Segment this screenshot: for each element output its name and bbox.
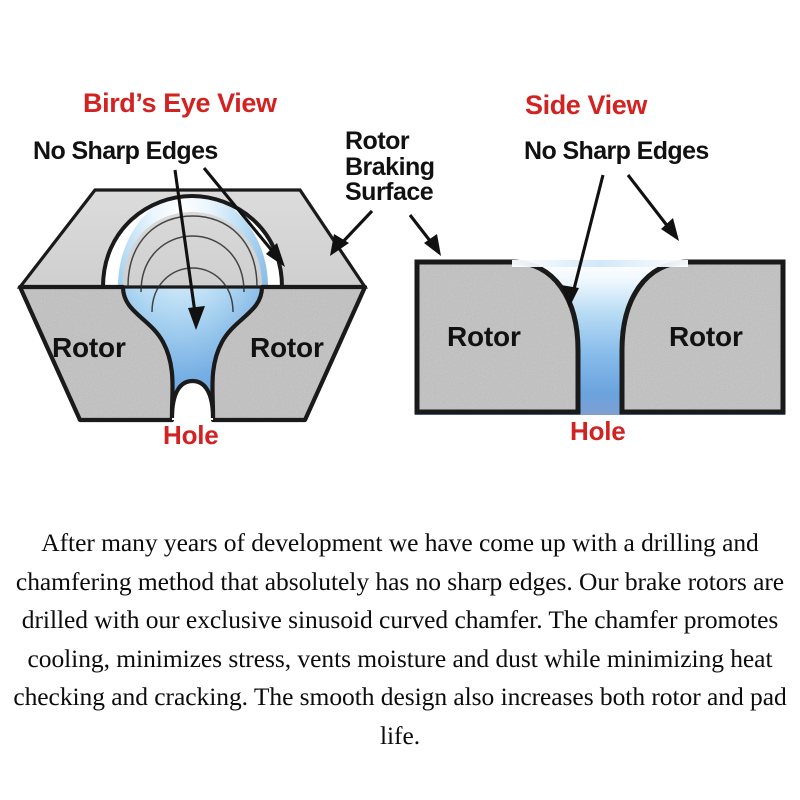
birds-eye-view-title: Bird’s Eye View <box>83 89 277 117</box>
side-rotor-label-east: Rotor <box>669 322 743 351</box>
rotor-braking-surface-label: Rotor Braking Surface <box>345 129 435 206</box>
left-hole-label: Hole <box>163 422 219 449</box>
rotor-chamfer-infographic: Bird’s Eye View No Sharp Edges Rotor Bra… <box>0 0 800 800</box>
left-no-sharp-edges-label: No Sharp Edges <box>33 138 218 164</box>
side-view-title: Side View <box>525 91 647 119</box>
side-surface-feather <box>512 260 688 267</box>
left-rotor-label-east: Rotor <box>250 333 324 362</box>
left-rotor-label-west: Rotor <box>52 333 126 362</box>
diagram-area: Bird’s Eye View No Sharp Edges Rotor Bra… <box>0 0 800 500</box>
caption-paragraph: After many years of development we have … <box>8 524 792 755</box>
arrow-line-right-sharp-b <box>628 175 672 232</box>
diagram-svg <box>0 0 800 500</box>
side-rotor-label-west: Rotor <box>447 322 521 351</box>
side-hole-label: Hole <box>570 418 626 445</box>
right-no-sharp-edges-label: No Sharp Edges <box>524 138 709 164</box>
